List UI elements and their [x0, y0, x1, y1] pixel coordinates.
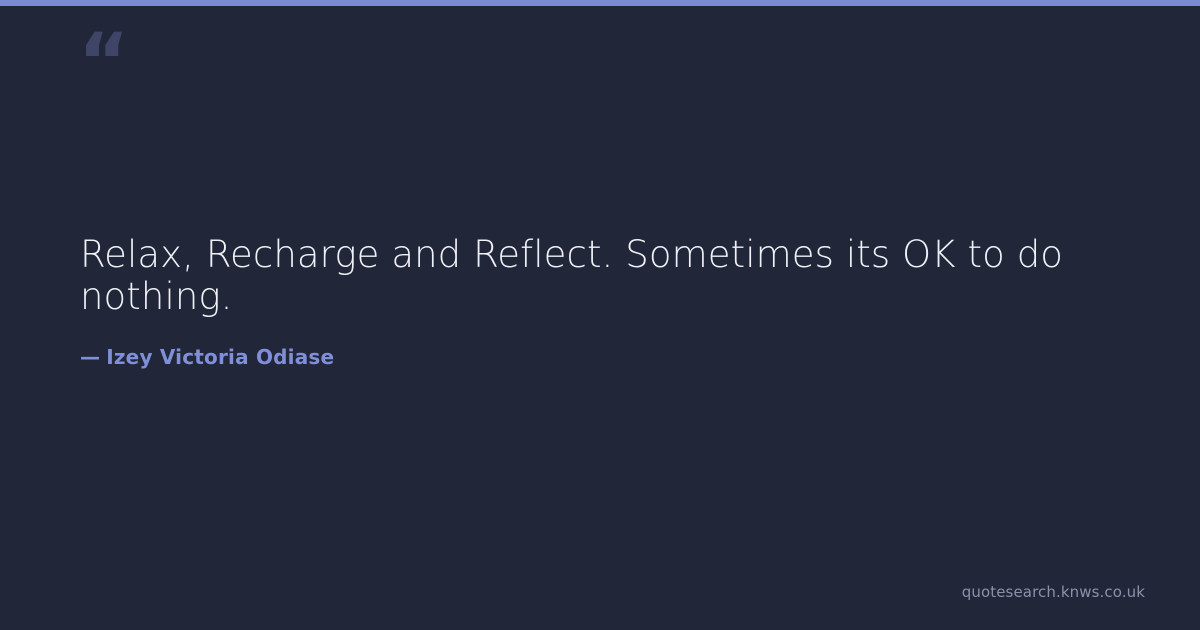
site-watermark: quotesearch.knws.co.uk [962, 583, 1145, 601]
quote-attribution: —Izey Victoria Odiase [80, 345, 334, 369]
quote-body: Relax, Recharge and Reflect. Sometimes i… [80, 234, 1110, 318]
top-accent-bar [0, 0, 1200, 6]
quote-card: “ Relax, Recharge and Reflect. Sometimes… [0, 0, 1200, 630]
quote-author-name: Izey Victoria Odiase [106, 345, 334, 369]
quote-text: Relax, Recharge and Reflect. Sometimes i… [80, 234, 1110, 318]
attribution-dash: — [80, 345, 100, 369]
open-quote-icon: “ [78, 24, 127, 102]
